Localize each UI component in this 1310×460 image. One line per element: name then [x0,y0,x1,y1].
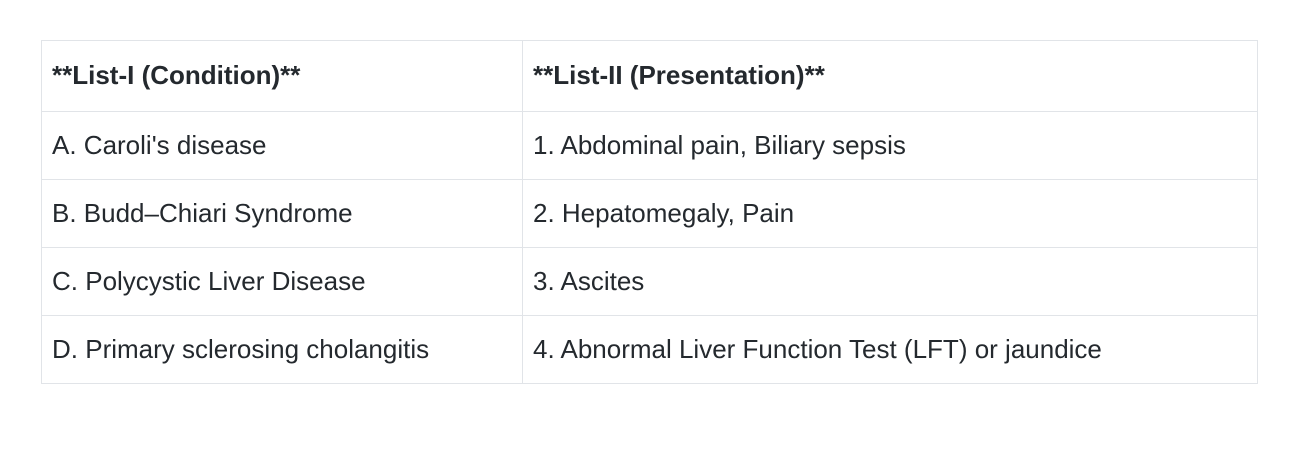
page-root: **List-I (Condition)** **List-II (Presen… [0,0,1310,460]
matching-table-container: **List-I (Condition)** **List-II (Presen… [41,40,1258,384]
column-header-list-i: **List-I (Condition)** [42,41,523,112]
table-header-row: **List-I (Condition)** **List-II (Presen… [42,41,1258,112]
cell-condition-c: C. Polycystic Liver Disease [42,248,523,316]
cell-presentation-1: 1. Abdominal pain, Biliary sepsis [523,112,1258,180]
column-header-list-ii: **List-II (Presentation)** [523,41,1258,112]
table-row: B. Budd–Chiari Syndrome 2. Hepatomegaly,… [42,180,1258,248]
table-body: A. Caroli's disease 1. Abdominal pain, B… [42,112,1258,384]
table-header: **List-I (Condition)** **List-II (Presen… [42,41,1258,112]
matching-table: **List-I (Condition)** **List-II (Presen… [41,40,1258,384]
cell-condition-a: A. Caroli's disease [42,112,523,180]
table-row: A. Caroli's disease 1. Abdominal pain, B… [42,112,1258,180]
cell-condition-b: B. Budd–Chiari Syndrome [42,180,523,248]
table-row: C. Polycystic Liver Disease 3. Ascites [42,248,1258,316]
cell-presentation-2: 2. Hepatomegaly, Pain [523,180,1258,248]
table-row: D. Primary sclerosing cholangitis 4. Abn… [42,316,1258,384]
cell-presentation-3: 3. Ascites [523,248,1258,316]
cell-presentation-4: 4. Abnormal Liver Function Test (LFT) or… [523,316,1258,384]
cell-condition-d: D. Primary sclerosing cholangitis [42,316,523,384]
